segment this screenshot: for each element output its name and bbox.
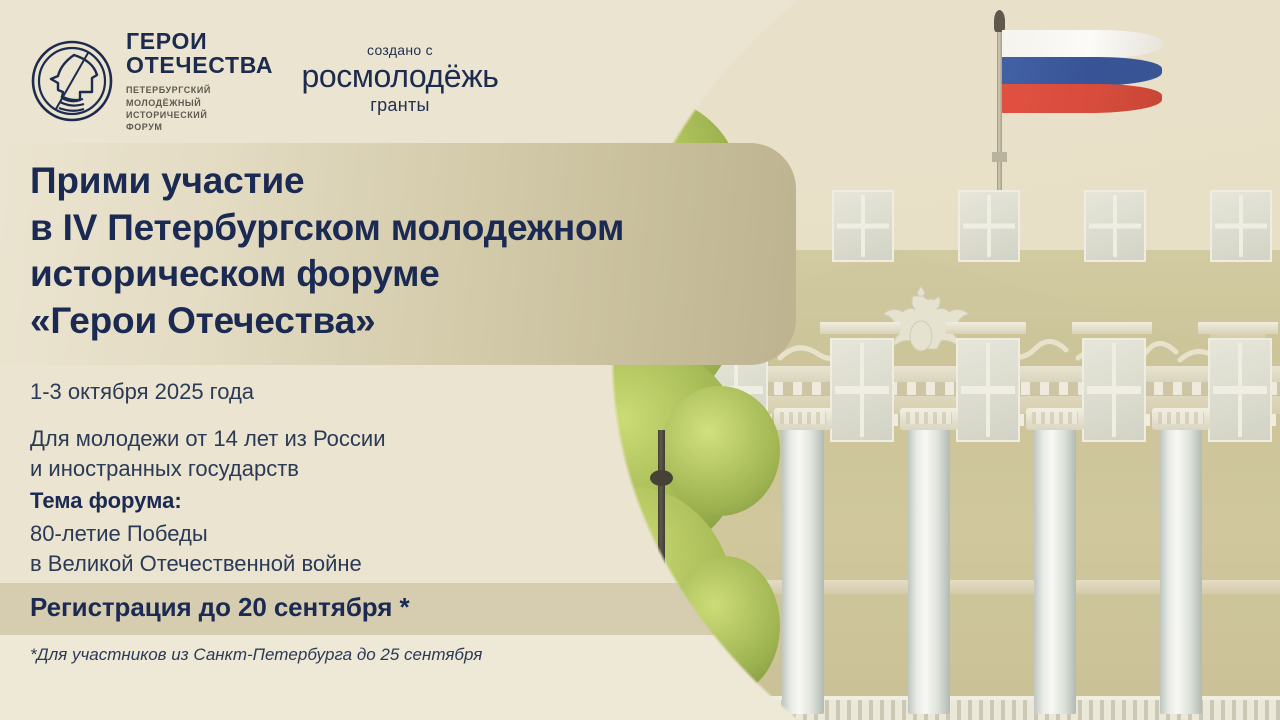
russian-flag-icon xyxy=(1002,30,1162,116)
theme-line-1: 80-летие Победы xyxy=(30,519,550,549)
window-hood xyxy=(1072,322,1152,334)
headline-line-4: «Герои Отечества» xyxy=(30,298,790,345)
event-details: 1-3 октября 2025 года Для молодежи от 14… xyxy=(30,378,550,484)
page-title: Прими участие в IV Петербургском молодеж… xyxy=(30,158,790,344)
column xyxy=(1160,426,1202,714)
partner-prefix: создано с xyxy=(292,42,508,58)
column-capital-icon xyxy=(1026,408,1084,430)
headline-line-2: в IV Петербургском молодежном xyxy=(30,205,790,252)
partner-subtitle: гранты xyxy=(292,95,508,116)
audience-line-2: и иностранных государств xyxy=(30,454,550,484)
column-capital-icon xyxy=(1152,408,1210,430)
theme-label: Тема форума: xyxy=(30,487,550,516)
audience-line-1: Для молодежи от 14 лет из России xyxy=(30,424,550,454)
column xyxy=(1034,426,1076,714)
window-hood xyxy=(946,322,1026,334)
hero-profile-emblem-icon xyxy=(30,39,114,123)
facade-window xyxy=(1210,190,1272,262)
logo-sub-line2: МОЛОДЁЖНЫЙ xyxy=(126,97,273,109)
facade-window xyxy=(832,190,894,262)
logo-sub-line4: ФОРУМ xyxy=(126,121,273,133)
theme-line-2: в Великой Отечественной войне xyxy=(30,549,550,579)
registration-deadline: Регистрация до 20 сентября * xyxy=(30,592,409,623)
theme-body: 80-летие Победы в Великой Отечественной … xyxy=(30,519,550,580)
facade-window xyxy=(1084,190,1146,262)
window-hood xyxy=(1198,322,1278,334)
facade-window xyxy=(958,190,1020,262)
headline-line-1: Прими участие xyxy=(30,158,790,205)
window-hood xyxy=(820,322,900,334)
column-capital-icon xyxy=(900,408,958,430)
logo-sub-line1: ПЕТЕРБУРГСКИЙ xyxy=(126,84,273,96)
street-lamp-finial xyxy=(650,470,673,486)
logo-sub-line3: ИСТОРИЧЕСКИЙ xyxy=(126,109,273,121)
flag-pole-finial xyxy=(994,10,1005,32)
event-dates: 1-3 октября 2025 года xyxy=(30,378,550,406)
poster-root: ГЕРОИ ОТЕЧЕСТВА ПЕТЕРБУРГСКИЙ МОЛОДЁЖНЫЙ… xyxy=(0,0,1280,720)
forum-logo[interactable]: ГЕРОИ ОТЕЧЕСТВА ПЕТЕРБУРГСКИЙ МОЛОДЁЖНЫЙ… xyxy=(30,30,273,133)
partner-name: росмолодёжь xyxy=(292,60,508,94)
forum-theme: Тема форума: 80-летие Победы в Великой О… xyxy=(30,487,550,579)
logo-title-line1: ГЕРОИ xyxy=(126,30,273,54)
registration-footnote: *Для участников из Санкт-Петербурга до 2… xyxy=(30,645,482,665)
headline-line-3: историческом форуме xyxy=(30,251,790,298)
column xyxy=(908,426,950,714)
logo-title-line2: ОТЕЧЕСТВА xyxy=(126,54,273,78)
rosmolodezh-grants-logo[interactable]: создано с росмолодёжь гранты xyxy=(292,42,508,116)
event-audience: Для молодежи от 14 лет из России и иност… xyxy=(30,424,550,485)
